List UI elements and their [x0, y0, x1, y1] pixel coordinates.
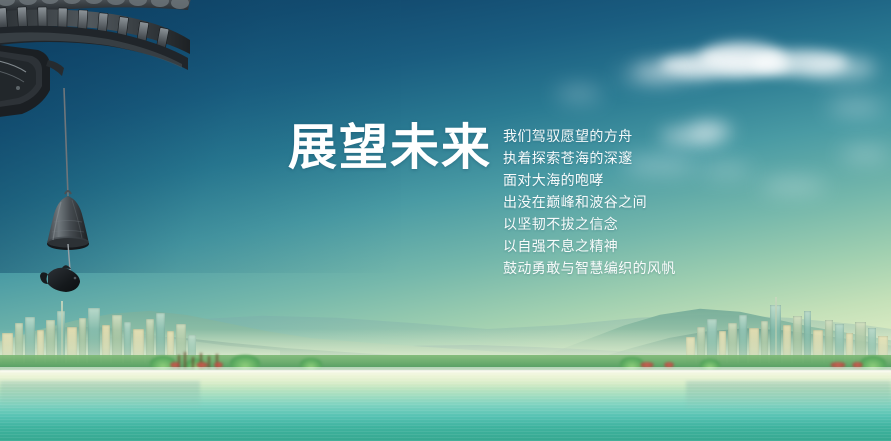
poem-line: 以自强不息之精神: [503, 235, 713, 257]
poem-line: 鼓动勇敢与智慧编织的风帆: [503, 257, 713, 279]
poem-line: 执着探索苍海的深邃: [503, 147, 713, 169]
poem-block: 我们驾驭愿望的方舟 执着探索苍海的深邃 面对大海的咆哮 出没在巅峰和波谷之间 以…: [503, 125, 713, 279]
cloud-icon: [840, 148, 890, 160]
cloud-icon: [828, 100, 884, 114]
poem-line: 我们驾驭愿望的方舟: [503, 125, 713, 147]
water-ripples: [0, 371, 891, 441]
cloud-icon: [806, 58, 876, 78]
cloud-icon: [618, 70, 678, 82]
poem-line: 出没在巅峰和波谷之间: [503, 191, 713, 213]
horizon-line: [0, 370, 891, 372]
page-title: 展望未来: [288, 124, 492, 173]
poem-line: 以坚韧不拔之信念: [503, 213, 713, 235]
cloud-icon: [556, 88, 602, 100]
hero-banner: 展望未来 我们驾驭愿望的方舟 执着探索苍海的深邃 面对大海的咆哮 出没在巅峰和波…: [0, 0, 891, 441]
poem-line: 面对大海的咆哮: [503, 169, 713, 191]
wind-bell-assembly: [40, 88, 110, 298]
cloud-icon: [760, 180, 826, 192]
